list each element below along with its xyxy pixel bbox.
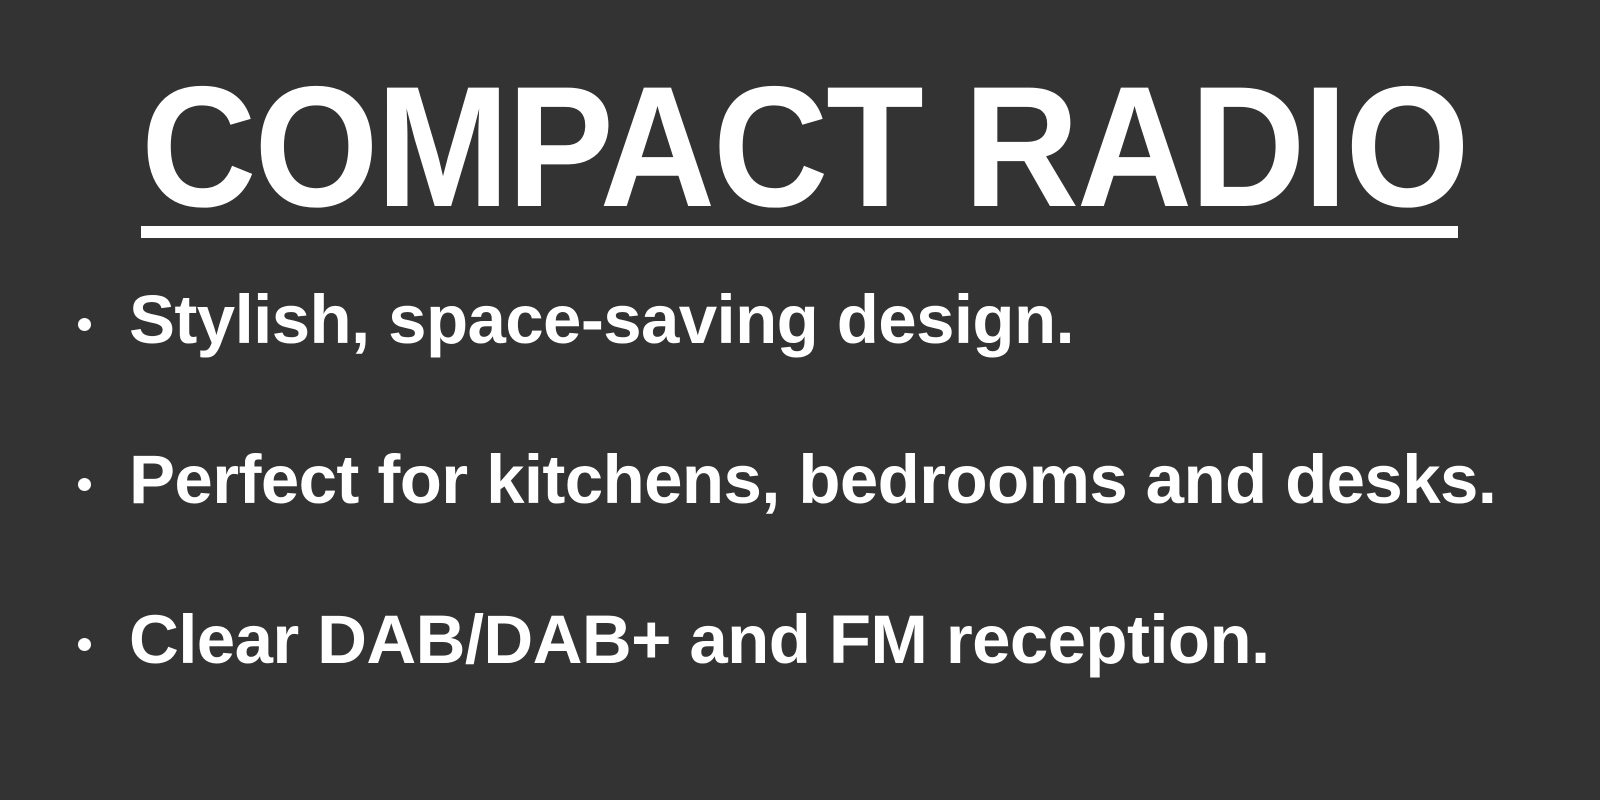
title-underline-rule bbox=[141, 226, 1458, 238]
bullet-dot-icon bbox=[78, 638, 91, 651]
feature-bullet-list: Stylish, space-saving design. Perfect fo… bbox=[78, 281, 1558, 761]
list-item: Perfect for kitchens, bedrooms and desks… bbox=[78, 441, 1558, 601]
product-feature-slide: COMPACT RADIO Stylish, space-saving desi… bbox=[0, 0, 1600, 800]
list-item: Stylish, space-saving design. bbox=[78, 281, 1558, 441]
bullet-dot-icon bbox=[78, 318, 91, 331]
heading-block: COMPACT RADIO bbox=[141, 60, 1471, 235]
list-item-label: Stylish, space-saving design. bbox=[129, 281, 1558, 358]
list-item-label: Perfect for kitchens, bedrooms and desks… bbox=[129, 441, 1558, 518]
list-item: Clear DAB/DAB+ and FM reception. bbox=[78, 601, 1558, 761]
page-title: COMPACT RADIO bbox=[141, 60, 1378, 235]
bullet-dot-icon bbox=[78, 478, 91, 491]
list-item-label: Clear DAB/DAB+ and FM reception. bbox=[129, 601, 1558, 678]
